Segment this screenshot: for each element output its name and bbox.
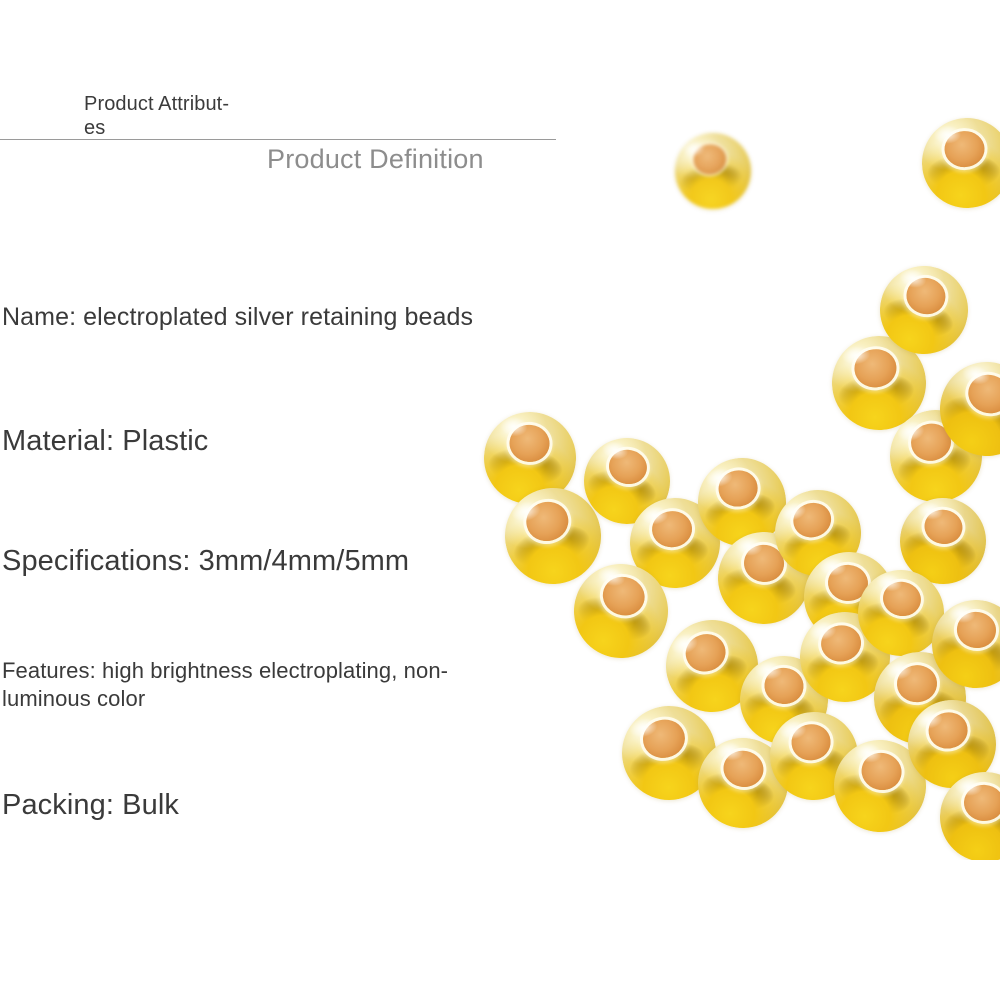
bead [766,708,863,805]
bead [920,116,1000,209]
spec-material: Material: Plastic [2,424,208,458]
bead [901,693,1000,795]
bead [827,331,930,434]
spec-features: Features: high brightness electroplating… [2,657,494,713]
bead [871,649,969,747]
bead [794,606,896,708]
bead [881,401,990,510]
bead [871,257,978,364]
bead [495,478,611,594]
product-attributes-heading: Product Attribut- es [84,92,259,140]
bead [479,407,580,508]
bead [654,608,770,724]
bead [712,526,816,630]
bead [670,128,756,214]
bead [893,491,993,591]
product-attributes-page: Product Attribut- es Product Definition … [0,0,1000,1000]
bead [736,652,833,749]
bead [929,351,1000,467]
bead [691,451,793,553]
spec-packing: Packing: Bulk [2,788,179,822]
bead [627,495,723,591]
bead [576,430,678,532]
product-definition-heading: Product Definition [267,143,484,175]
bead [937,769,1000,860]
bead [765,480,871,586]
bead [850,562,952,664]
bead [613,697,724,808]
bead [691,731,795,835]
bead [562,552,680,670]
bead [801,549,897,645]
bead [824,730,936,842]
bead [926,594,1000,693]
spec-specifications: Specifications: 3mm/4mm/5mm [2,544,409,578]
spec-name: Name: electroplated silver retaining bea… [2,302,473,332]
product-photo-beads [470,100,1000,860]
header-divider [0,139,556,140]
